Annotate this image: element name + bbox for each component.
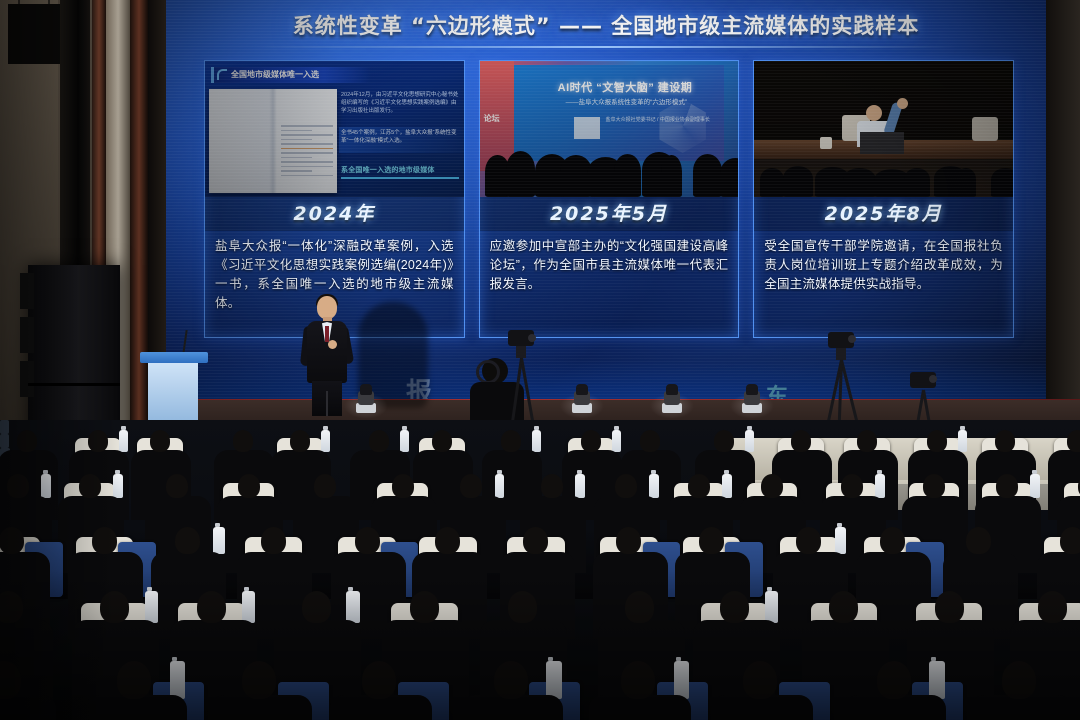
audience-head: [791, 430, 811, 452]
audience-head: [117, 661, 151, 698]
water-bottle: [400, 430, 409, 452]
moving-head-light-4: [740, 383, 764, 413]
audience-head: [841, 474, 863, 498]
bottle-cap: [837, 523, 842, 527]
ceiling-speaker: [8, 4, 60, 64]
audience-head: [435, 527, 460, 555]
audience-shoulders: [844, 695, 946, 720]
bottle-cap: [577, 470, 582, 474]
bottle-cap: [877, 470, 882, 474]
audience-head: [923, 474, 945, 498]
audience-head: [1060, 527, 1080, 555]
bottle-cap: [115, 470, 120, 474]
audience-shoulders: [85, 695, 187, 720]
audience-head: [829, 591, 858, 623]
bottle-cap: [323, 426, 328, 430]
raised-phone: [0, 434, 9, 448]
audience-head: [392, 474, 414, 498]
moving-head-light-1: [354, 383, 378, 413]
headphones-icon: [476, 360, 500, 384]
water-bottle: [649, 474, 659, 498]
bottle-cap: [497, 470, 502, 474]
audience-head: [625, 591, 654, 623]
audience-head: [699, 527, 724, 555]
audience-head: [100, 591, 129, 623]
camera-lens-icon: [528, 334, 536, 342]
water-bottle: [113, 474, 123, 498]
water-bottle: [321, 430, 330, 452]
water-bottle: [170, 661, 185, 698]
water-bottle: [1030, 474, 1040, 498]
audience-head: [88, 430, 108, 452]
bottle-cap: [651, 470, 656, 474]
audience-area: [0, 420, 1080, 720]
audience-head: [857, 430, 877, 452]
audience-head: [501, 430, 521, 452]
audience-head: [615, 474, 637, 498]
water-bottle: [575, 474, 585, 498]
moving-head-light-2: [570, 383, 594, 413]
audience-head: [616, 527, 641, 555]
bottle-cap: [1032, 470, 1037, 474]
bottle-cap: [724, 470, 729, 474]
water-bottle: [346, 591, 359, 623]
audience-head: [238, 474, 260, 498]
water-bottle: [722, 474, 732, 498]
bottle-cap: [747, 426, 752, 430]
bottle-cap: [43, 470, 48, 474]
audience-head: [410, 591, 439, 623]
audience-head: [880, 527, 905, 555]
bottle-cap: [172, 657, 177, 661]
audience-shoulders: [210, 695, 312, 720]
audience-head: [0, 591, 23, 623]
audience-head: [432, 430, 452, 452]
audience-head: [935, 591, 964, 623]
bottle-cap: [534, 426, 539, 430]
audience-head: [761, 474, 783, 498]
audience-head: [7, 474, 29, 498]
water-bottle: [495, 474, 505, 498]
audience-head: [460, 474, 482, 498]
bottle-cap: [402, 426, 407, 430]
audience-head: [242, 661, 276, 698]
bottle-cap: [931, 657, 936, 661]
water-bottle: [835, 527, 846, 555]
audience-head: [995, 430, 1015, 452]
bottle-cap: [676, 657, 681, 661]
audience-head: [966, 527, 991, 555]
water-bottle: [929, 661, 944, 698]
audience-head: [175, 527, 200, 555]
water-bottle: [213, 527, 224, 555]
audience-head: [197, 591, 226, 623]
water-bottle: [145, 591, 158, 623]
audience-head: [150, 430, 170, 452]
bottle-cap: [548, 657, 553, 661]
bottle-cap: [121, 426, 126, 430]
audience-head: [927, 430, 947, 452]
audience-head: [508, 591, 537, 623]
water-bottle: [612, 430, 621, 452]
bottle-cap: [960, 426, 965, 430]
audience-shoulders: [461, 695, 563, 720]
audience-head: [302, 591, 331, 623]
water-bottle: [875, 474, 885, 498]
audience-head: [541, 474, 563, 498]
bottle-cap: [244, 587, 249, 591]
audience-head: [166, 474, 188, 498]
audience-head: [720, 591, 749, 623]
audience-head: [621, 661, 655, 698]
audience-head: [362, 661, 396, 698]
moving-head-light-3: [660, 383, 684, 413]
audience-shoulders: [0, 695, 56, 720]
audience-head: [290, 430, 310, 452]
audience-head: [494, 661, 528, 698]
bottle-cap: [215, 523, 220, 527]
audience-head: [79, 474, 101, 498]
audience-head: [17, 430, 37, 452]
water-bottle: [41, 474, 51, 498]
audience-shoulders: [589, 695, 691, 720]
podium: [140, 352, 208, 430]
audience-head: [743, 661, 777, 698]
audience-head: [261, 527, 286, 555]
audience-head: [1002, 661, 1036, 698]
audience-head: [314, 474, 336, 498]
bottle-cap: [614, 426, 619, 430]
audience-head: [581, 430, 601, 452]
water-bottle: [745, 430, 754, 452]
camera-lens-icon: [848, 335, 856, 343]
water-bottle: [242, 591, 255, 623]
audience-head: [523, 527, 548, 555]
audience-shoulders: [970, 695, 1072, 720]
water-bottle: [958, 430, 967, 452]
audience-head: [796, 527, 821, 555]
audience-head: [92, 527, 117, 555]
camera-lens-icon: [929, 375, 937, 383]
raised-phone: [0, 420, 9, 434]
water-bottle: [765, 591, 778, 623]
audience-head: [369, 430, 389, 452]
water-bottle: [674, 661, 689, 698]
bottle-cap: [348, 587, 353, 591]
audience-head: [1067, 430, 1080, 452]
audience-head: [0, 527, 24, 555]
audience-shoulders: [711, 695, 813, 720]
audience-head: [1038, 591, 1067, 623]
audience-head: [688, 474, 710, 498]
audience-head: [996, 474, 1018, 498]
audience-shoulders: [330, 695, 432, 720]
water-bottle: [119, 430, 128, 452]
audience-head: [640, 430, 660, 452]
audience-head: [355, 527, 380, 555]
bottle-cap: [147, 587, 152, 591]
audience-head: [233, 430, 253, 452]
bottle-cap: [767, 587, 772, 591]
water-bottle: [532, 430, 541, 452]
conference-photo: 系统性变革 “六边形模式” —— 全国地市级主流媒体的实践样本 全国地市级媒体唯…: [0, 0, 1080, 720]
audience-head: [714, 430, 734, 452]
audience-head: [877, 661, 911, 698]
water-bottle: [546, 661, 561, 698]
